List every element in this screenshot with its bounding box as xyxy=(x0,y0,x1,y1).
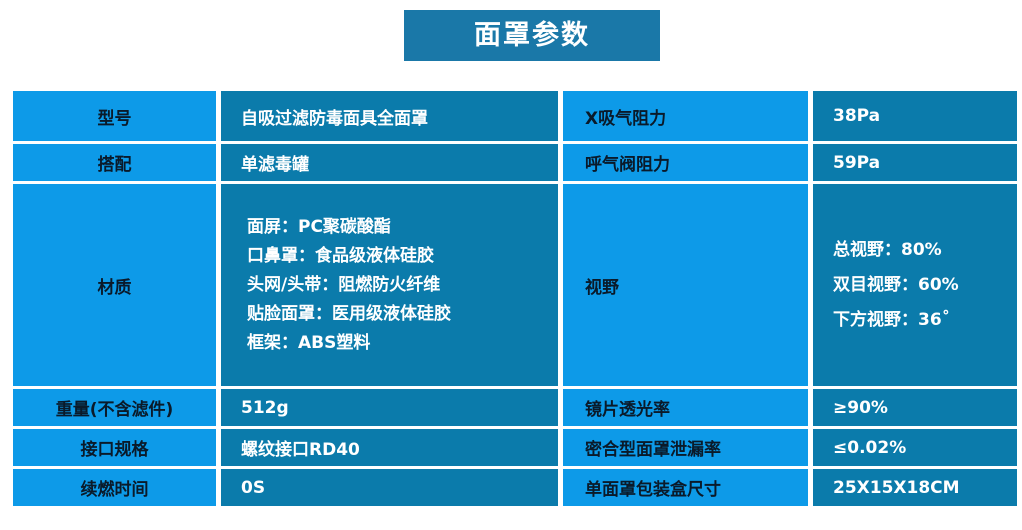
spec-label-text: X吸气阻力 xyxy=(585,104,666,129)
spec-value-weight: 512g xyxy=(221,389,558,426)
table-row: 重量(不含滤件) 512g xyxy=(13,389,558,426)
spec-value-field-of-view: 总视野：80% 双目视野：60% 下方视野：36˚ xyxy=(813,184,1017,386)
table-band-top: 型号 自吸过滤防毒面具全面罩 搭配 单滤毒罐 X吸气阻力 xyxy=(13,91,1012,181)
spec-label-text: 型号 xyxy=(98,104,132,129)
spec-value-lens-transmittance: ≥90% xyxy=(813,389,1017,426)
table-row: X吸气阻力 38Pa xyxy=(563,91,1017,141)
spec-label-text: 镜片透光率 xyxy=(585,395,670,420)
spec-label-model: 型号 xyxy=(13,91,216,141)
table-row: 单面罩包装盒尺寸 25X15X18CM xyxy=(563,469,1017,506)
spec-label-text: 续燃时间 xyxy=(81,475,149,500)
page-title: 面罩参数 xyxy=(474,22,590,49)
left-column-group-top: 型号 自吸过滤防毒面具全面罩 搭配 单滤毒罐 xyxy=(13,91,558,181)
material-line: 口鼻罩：食品级液体硅胶 xyxy=(247,248,434,265)
spec-label-text: 重量(不含滤件) xyxy=(56,395,174,420)
spec-label-exhalation-valve-resistance: 呼气阀阻力 xyxy=(563,144,808,181)
spec-value-text: 单滤毒罐 xyxy=(241,150,309,175)
spec-label-inhalation-resistance: X吸气阻力 xyxy=(563,91,808,141)
spec-value-text: 自吸过滤防毒面具全面罩 xyxy=(241,104,428,129)
spec-value-text: 38Pa xyxy=(833,106,880,126)
spec-label-material: 材质 xyxy=(13,184,216,386)
spec-label-text: 视野 xyxy=(585,273,619,298)
table-row-material: 材质 面屏：PC聚碳酸酯 口鼻罩：食品级液体硅胶 头网/头带：阻燃防火纤维 贴脸… xyxy=(13,184,558,386)
spec-value-material: 面屏：PC聚碳酸酯 口鼻罩：食品级液体硅胶 头网/头带：阻燃防火纤维 贴脸面罩：… xyxy=(221,184,558,386)
spec-value-text: ≤0.02% xyxy=(833,438,906,458)
spec-value-pairing: 单滤毒罐 xyxy=(221,144,558,181)
table-row: 镜片透光率 ≥90% xyxy=(563,389,1017,426)
left-column-group-bottom: 重量(不含滤件) 512g 接口规格 螺纹接口RD40 续燃时间 xyxy=(13,389,558,506)
table-band-middle: 材质 面屏：PC聚碳酸酯 口鼻罩：食品级液体硅胶 头网/头带：阻燃防火纤维 贴脸… xyxy=(13,184,1012,386)
spec-label-field-of-view: 视野 xyxy=(563,184,808,386)
spec-value-text: 25X15X18CM xyxy=(833,478,960,498)
spec-label-text: 材质 xyxy=(98,273,132,298)
spec-value-text: ≥90% xyxy=(833,398,888,418)
right-column-group-bottom: 镜片透光率 ≥90% 密合型面罩泄漏率 ≤0.02% 单面罩包装盒尺寸 xyxy=(563,389,1017,506)
spec-value-inhalation-resistance: 38Pa xyxy=(813,91,1017,141)
material-line: 框架：ABS塑料 xyxy=(247,335,370,352)
spec-label-weight: 重量(不含滤件) xyxy=(13,389,216,426)
table-row: 搭配 单滤毒罐 xyxy=(13,144,558,181)
right-column-group-top: X吸气阻力 38Pa 呼气阀阻力 59Pa xyxy=(563,91,1017,181)
spec-label-text: 呼气阀阻力 xyxy=(585,150,670,175)
vision-line: 总视野：80% xyxy=(833,242,942,259)
vision-line: 下方视野：36˚ xyxy=(833,312,950,329)
spec-value-package-size: 25X15X18CM xyxy=(813,469,1017,506)
mask-specification-table: 型号 自吸过滤防毒面具全面罩 搭配 单滤毒罐 X吸气阻力 xyxy=(13,91,1012,523)
spec-value-leakage-rate: ≤0.02% xyxy=(813,429,1017,466)
spec-value-exhalation-valve-resistance: 59Pa xyxy=(813,144,1017,181)
spec-value-afterflame-time: 0S xyxy=(221,469,558,506)
spec-value-text: 螺纹接口RD40 xyxy=(241,435,360,460)
table-band-bottom: 重量(不含滤件) 512g 接口规格 螺纹接口RD40 续燃时间 xyxy=(13,389,1012,506)
spec-value-text: 512g xyxy=(241,398,289,418)
spec-label-leakage-rate: 密合型面罩泄漏率 xyxy=(563,429,808,466)
spec-label-lens-transmittance: 镜片透光率 xyxy=(563,389,808,426)
page-title-banner: 面罩参数 xyxy=(404,10,660,61)
table-row: 型号 自吸过滤防毒面具全面罩 xyxy=(13,91,558,141)
spec-label-text: 单面罩包装盒尺寸 xyxy=(585,475,721,500)
table-row: 接口规格 螺纹接口RD40 xyxy=(13,429,558,466)
material-line: 头网/头带：阻燃防火纤维 xyxy=(247,277,440,294)
table-row: 续燃时间 0S xyxy=(13,469,558,506)
spec-value-text: 59Pa xyxy=(833,153,880,173)
spec-label-text: 密合型面罩泄漏率 xyxy=(585,435,721,460)
spec-label-package-size: 单面罩包装盒尺寸 xyxy=(563,469,808,506)
table-row-vision: 视野 总视野：80% 双目视野：60% 下方视野：36˚ xyxy=(563,184,1017,386)
spec-label-pairing: 搭配 xyxy=(13,144,216,181)
table-row: 密合型面罩泄漏率 ≤0.02% xyxy=(563,429,1017,466)
spec-label-connector: 接口规格 xyxy=(13,429,216,466)
spec-label-text: 接口规格 xyxy=(81,435,149,460)
material-line: 面屏：PC聚碳酸酯 xyxy=(247,219,391,236)
spec-label-afterflame-time: 续燃时间 xyxy=(13,469,216,506)
spec-value-model: 自吸过滤防毒面具全面罩 xyxy=(221,91,558,141)
material-line: 贴脸面罩：医用级液体硅胶 xyxy=(247,306,451,323)
spec-value-text: 0S xyxy=(241,478,265,498)
spec-value-connector: 螺纹接口RD40 xyxy=(221,429,558,466)
vision-line: 双目视野：60% xyxy=(833,277,959,294)
table-row: 呼气阀阻力 59Pa xyxy=(563,144,1017,181)
spec-label-text: 搭配 xyxy=(98,150,132,175)
